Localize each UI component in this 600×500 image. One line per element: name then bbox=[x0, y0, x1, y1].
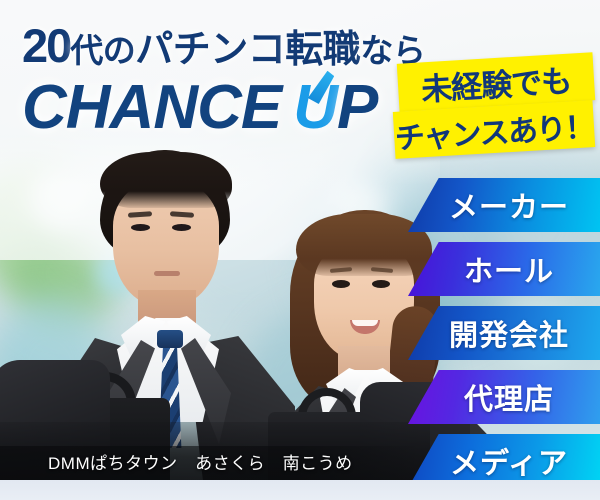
teeth bbox=[352, 320, 378, 326]
eye bbox=[372, 280, 390, 288]
headline-mid: 代の bbox=[70, 32, 135, 69]
category-bar-hall[interactable]: ホール bbox=[408, 242, 600, 296]
category-label-agency: 代理店 bbox=[454, 376, 554, 418]
category-label-hall: ホール bbox=[454, 248, 554, 290]
chance-up-banner[interactable]: 20代のパチンコ転職なら CHANCEUP 未経験でも チャンスあり！ メーカー… bbox=[0, 0, 600, 500]
headline-katakana: パチンコ bbox=[135, 29, 285, 71]
logo-u: U bbox=[293, 73, 337, 142]
headline-tail: 転職 bbox=[285, 29, 360, 71]
eye bbox=[131, 224, 150, 231]
caption-text: DMMぱちタウン あさくら 南こうめ bbox=[48, 449, 353, 474]
logo-up: UP bbox=[293, 72, 377, 143]
category-label-media: メディア bbox=[440, 440, 568, 482]
eye bbox=[332, 280, 350, 288]
badge-line-2-text: チャンスあり！ bbox=[394, 102, 595, 158]
category-bar-list: メーカー ホール 開発会社 代理店 メディア bbox=[408, 178, 600, 498]
badge-line-1-text: 未経験でも bbox=[420, 55, 572, 109]
category-label-maker: メーカー bbox=[439, 184, 569, 226]
chance-up-logo: CHANCEUP bbox=[22, 72, 377, 143]
category-bar-agency[interactable]: 代理店 bbox=[408, 370, 600, 424]
headline-text: 20代のパチンコ転職なら bbox=[22, 18, 425, 73]
category-label-developer: 開発会社 bbox=[439, 312, 569, 354]
logo-chance: CHANCE bbox=[22, 73, 281, 142]
eye bbox=[172, 224, 191, 231]
logo-p: P bbox=[337, 73, 377, 142]
hair-fringe bbox=[100, 152, 232, 208]
mouth bbox=[154, 271, 180, 276]
bottom-strip bbox=[0, 480, 600, 500]
headline-number: 20 bbox=[22, 19, 70, 72]
category-bar-developer[interactable]: 開発会社 bbox=[408, 306, 600, 360]
highlight-badge: 未経験でも チャンスあり！ bbox=[398, 58, 594, 154]
category-bar-maker[interactable]: メーカー bbox=[408, 178, 600, 232]
necktie-knot bbox=[157, 330, 183, 348]
